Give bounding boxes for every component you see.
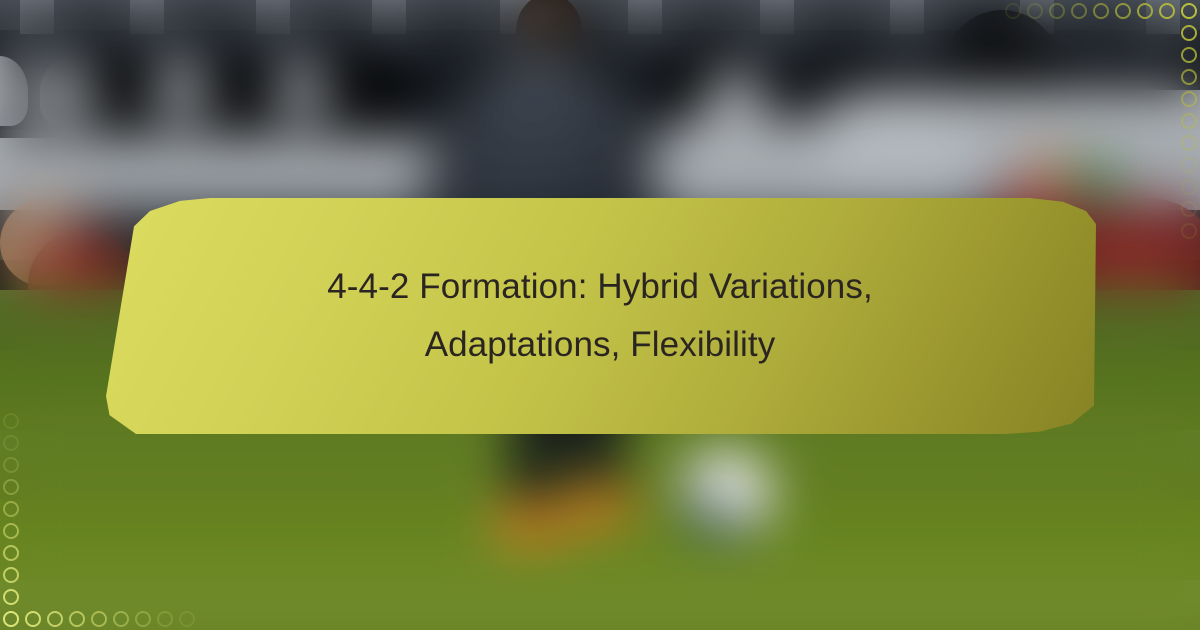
- decorative-circle: [1181, 135, 1197, 151]
- dot-grid-bottom-left: [0, 410, 198, 630]
- decorative-circle: [3, 457, 19, 473]
- decorative-circle: [1093, 3, 1109, 19]
- decorative-circle: [1181, 69, 1197, 85]
- decorative-circle: [1071, 3, 1087, 19]
- decorative-circle: [1115, 3, 1131, 19]
- decorative-circle: [1181, 25, 1197, 41]
- decorative-circle: [1181, 47, 1197, 63]
- decorative-circle: [91, 611, 107, 627]
- decorative-circle: [25, 611, 41, 627]
- page-title: 4-4-2 Formation: Hybrid Variations, Adap…: [280, 258, 920, 374]
- decorative-circle: [1027, 3, 1043, 19]
- decorative-circle: [1181, 179, 1197, 195]
- decorative-circle: [1137, 3, 1153, 19]
- decorative-circle: [1181, 157, 1197, 173]
- decorative-circle: [69, 611, 85, 627]
- decorative-circle: [179, 611, 195, 627]
- decorative-circle: [1005, 3, 1021, 19]
- decorative-circle: [3, 435, 19, 451]
- decorative-circle: [1181, 223, 1197, 239]
- decorative-circle: [3, 545, 19, 561]
- decorative-circle: [1181, 3, 1197, 19]
- share-card-canvas: 4-4-2 Formation: Hybrid Variations, Adap…: [0, 0, 1200, 630]
- decorative-circle: [3, 567, 19, 583]
- decorative-circle: [3, 501, 19, 517]
- decorative-circle: [3, 589, 19, 605]
- decorative-circle: [1181, 113, 1197, 129]
- decorative-circle: [3, 523, 19, 539]
- decorative-circle: [1181, 201, 1197, 217]
- decorative-circle: [1049, 3, 1065, 19]
- decorative-circle: [1159, 3, 1175, 19]
- title-card: 4-4-2 Formation: Hybrid Variations, Adap…: [100, 198, 1100, 434]
- title-card-content: 4-4-2 Formation: Hybrid Variations, Adap…: [100, 198, 1100, 434]
- decorative-circle: [3, 479, 19, 495]
- decorative-circle: [157, 611, 173, 627]
- decorative-circle: [3, 611, 19, 627]
- decorative-circle: [113, 611, 129, 627]
- decorative-circle: [135, 611, 151, 627]
- decorative-circle: [1181, 91, 1197, 107]
- decorative-circle: [3, 413, 19, 429]
- decorative-circle: [47, 611, 63, 627]
